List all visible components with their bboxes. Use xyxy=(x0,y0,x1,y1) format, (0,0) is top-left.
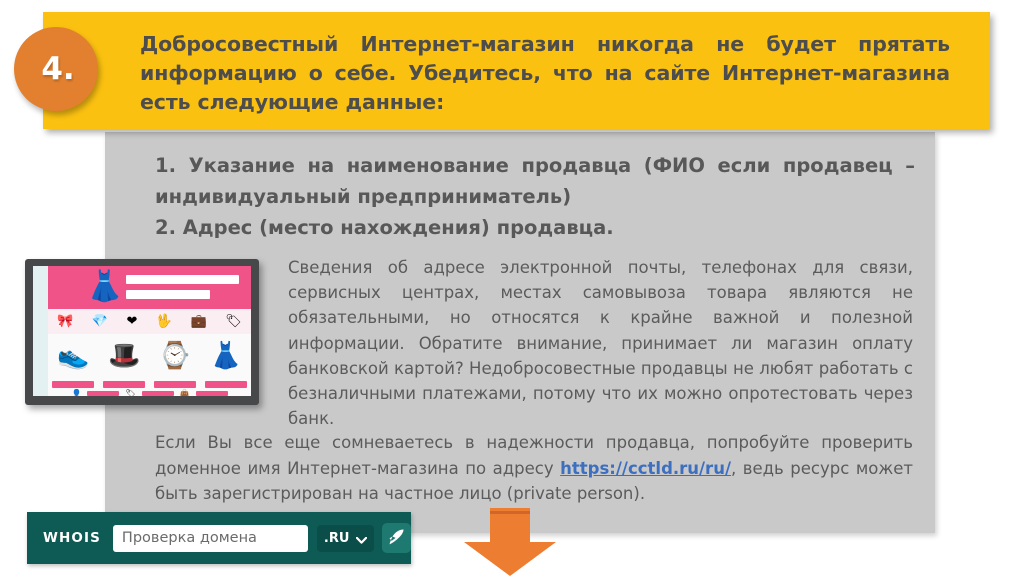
gift-icon: 💎 xyxy=(92,315,108,329)
shop-product-row: 👟 🎩 ⌚ 👗 xyxy=(48,334,251,378)
dress-icon: 👗 xyxy=(86,270,116,306)
whois-logo: WHOIS xyxy=(43,530,101,546)
dress-icon: 👗 xyxy=(209,342,241,370)
shop-price-bar xyxy=(154,381,196,388)
down-arrow-icon xyxy=(452,508,568,576)
header-banner: Добросовестный Интернет-магазин никогда … xyxy=(43,12,990,129)
ribbon-icon: 🎀 xyxy=(57,315,73,329)
whois-search-icon xyxy=(386,526,407,551)
shop-hero-banner: 👗 xyxy=(48,266,251,309)
detail-paragraph: Сведения об адресе электронной почты, те… xyxy=(288,255,913,431)
tld-select[interactable]: .RU xyxy=(317,525,374,552)
shop-price-bar xyxy=(52,381,94,388)
page-title: Добросовестный Интернет-магазин никогда … xyxy=(140,30,950,117)
shop-footer-bar xyxy=(87,391,119,396)
tag-icon: 🏷 xyxy=(125,389,135,397)
whois-widget: WHOIS .RU xyxy=(27,512,411,564)
shop-screenshot-thumbnail: 👗 🎀 💎 ❤ 🖖 💼 🏷 👟 🎩 ⌚ 👗 xyxy=(25,259,259,405)
slide-canvas: Добросовестный Интернет-магазин никогда … xyxy=(0,0,1024,576)
shop-footer-bar xyxy=(142,391,174,396)
chevron-down-icon xyxy=(356,529,367,548)
shop-hero-bar xyxy=(126,275,239,284)
shop-screen: 👗 🎀 💎 ❤ 🖖 💼 🏷 👟 🎩 ⌚ 👗 xyxy=(33,266,251,396)
requirement-item: 1. Указание на наименование продавца (ФИ… xyxy=(155,150,915,212)
shop-price-bar xyxy=(205,381,247,388)
shop-category-iconbar: 🎀 💎 ❤ 🖖 💼 🏷 xyxy=(48,309,251,334)
step-number-badge: 4. xyxy=(14,27,98,111)
luggage-icon: 💼 xyxy=(191,315,207,329)
perfume-icon: 🏷 xyxy=(225,315,242,329)
heart-icon: ❤ xyxy=(127,315,138,329)
shop-hero-bar xyxy=(126,290,210,299)
shop-sidebar xyxy=(33,266,48,396)
requirement-item: 2. Адрес (место нахождения) продавца. xyxy=(155,212,915,243)
sneaker-icon: 👟 xyxy=(57,342,89,370)
shop-footer-bar xyxy=(196,391,228,396)
hat-icon: 🎩 xyxy=(108,342,140,370)
watch-icon: ⌚ xyxy=(159,342,191,370)
shop-price-bar xyxy=(103,381,145,388)
shop-footer-row: 👤 🏷 👜 xyxy=(48,390,251,396)
closing-paragraph: Если Вы все еще сомневаетесь в надежност… xyxy=(155,430,913,507)
tld-select-label: .RU xyxy=(324,531,350,546)
cctld-link[interactable]: https://cctld.ru/ru/ xyxy=(560,459,731,478)
whois-search-button[interactable] xyxy=(382,523,411,553)
domain-search-input[interactable] xyxy=(113,525,308,552)
user-icon: 👤 xyxy=(71,389,81,397)
requirements-list: 1. Указание на наименование продавца (ФИ… xyxy=(155,150,915,243)
paper-plane-icon: 🖖 xyxy=(156,315,172,329)
bag-icon: 👜 xyxy=(180,389,190,397)
step-number-label: 4. xyxy=(14,27,98,111)
